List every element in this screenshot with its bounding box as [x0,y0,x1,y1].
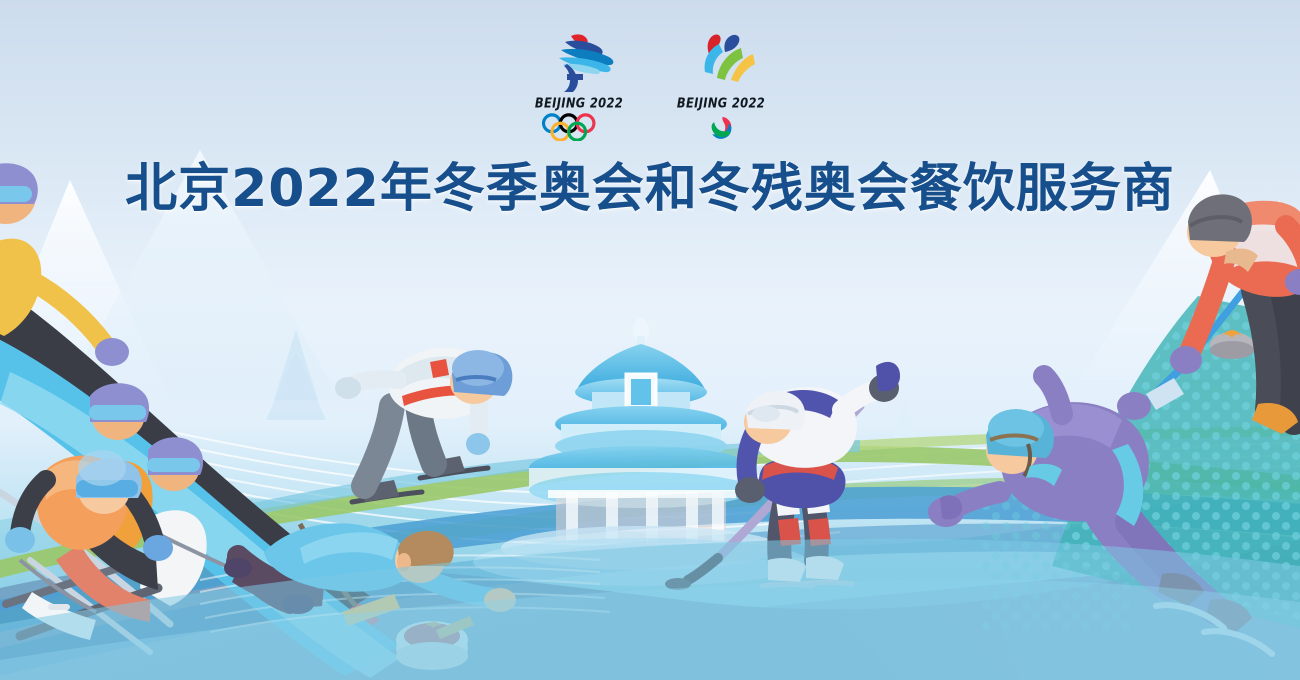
olympic-rings-icon [537,113,621,141]
olympic-wordmark: BEIJING 2022 [535,95,623,111]
winter-dream-emblem-icon [537,30,621,94]
beijing-2022-olympic-logo: BEIJING 2022 [531,30,627,141]
page-title: 北京2022年冬季奥会和冬残奥会餐饮服务商 [0,146,1300,221]
agitos-icon [679,113,763,141]
beijing-2022-paralympic-logo: BEIJING 2022 [673,30,769,141]
logo-row: BEIJING 2022 BEIJING 2022 [0,30,1300,141]
flying-high-emblem-icon [679,30,763,94]
olympic-banner: BEIJING 2022 BEIJING 2022 [0,0,1300,680]
paralympic-wordmark: BEIJING 2022 [677,95,765,111]
